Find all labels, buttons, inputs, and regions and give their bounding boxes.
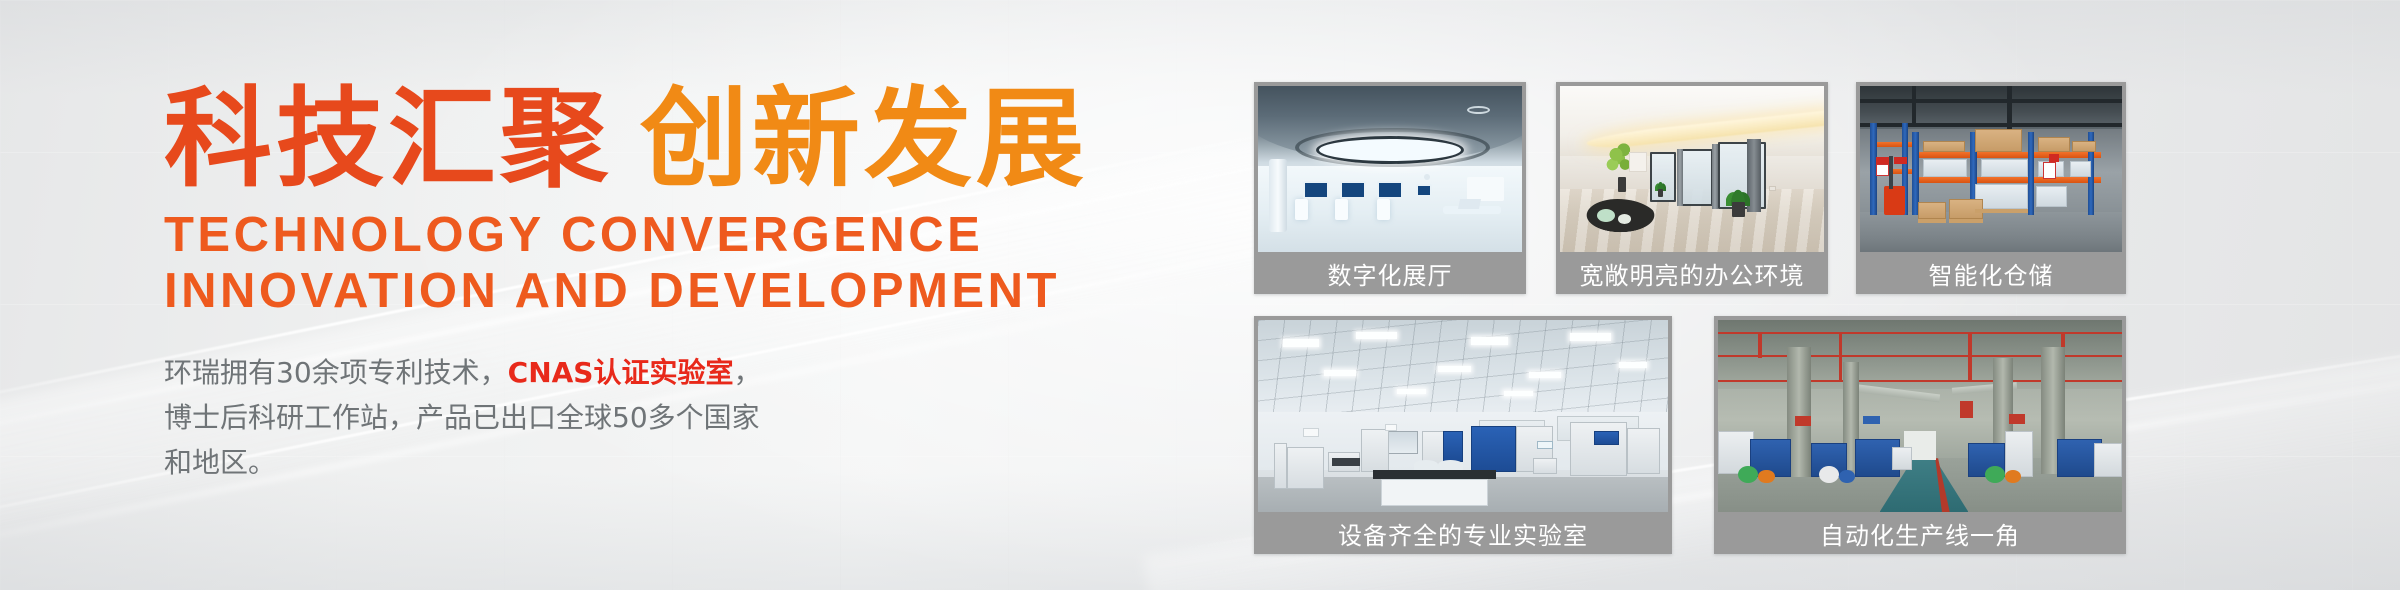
photo-card-office-environment[interactable]: 宽敞明亮的办公环境 bbox=[1556, 82, 1828, 294]
photo-card-laboratory[interactable]: 设备齐全的专业实验室 bbox=[1254, 316, 1672, 554]
photo-laboratory bbox=[1258, 320, 1668, 512]
banner-text-block: 科技汇聚创新发展 TECHNOLOGY CONVERGENCE INNOVATI… bbox=[164, 86, 1184, 486]
photo-digital-showroom bbox=[1258, 86, 1522, 252]
photo-caption: 智能化仓储 bbox=[1860, 252, 2122, 294]
headline-part-2: 创新发展 bbox=[640, 77, 1088, 202]
promo-banner: 科技汇聚创新发展 TECHNOLOGY CONVERGENCE INNOVATI… bbox=[0, 0, 2400, 590]
headline-part-1: 科技汇聚 bbox=[164, 77, 612, 202]
photo-card-smart-warehouse[interactable]: 智能化仓储 bbox=[1856, 82, 2126, 294]
photo-gallery-grid: 数字化展厅 bbox=[1254, 44, 2126, 554]
photo-caption: 宽敞明亮的办公环境 bbox=[1560, 252, 1824, 294]
description-highlight: CNAS认证实验室 bbox=[508, 356, 734, 389]
description-text: 环瑞拥有30余项专利技术，CNAS认证实验室，博士后科研工作站，产品已出口全球5… bbox=[164, 350, 764, 486]
photo-caption: 自动化生产线一角 bbox=[1718, 512, 2122, 554]
subtitle: TECHNOLOGY CONVERGENCE INNOVATION AND DE… bbox=[164, 208, 1184, 320]
photo-card-production-line[interactable]: 自动化生产线一角 bbox=[1714, 316, 2126, 554]
photo-card-digital-showroom[interactable]: 数字化展厅 bbox=[1254, 82, 1526, 294]
subtitle-line-2: INNOVATION AND DEVELOPMENT bbox=[164, 264, 1184, 320]
description-before: 环瑞拥有30余项专利技术， bbox=[164, 356, 508, 389]
photo-office-environment bbox=[1560, 86, 1824, 252]
photo-production-line bbox=[1718, 320, 2122, 512]
photo-caption: 设备齐全的专业实验室 bbox=[1258, 512, 1668, 554]
subtitle-line-1: TECHNOLOGY CONVERGENCE bbox=[164, 208, 983, 262]
page-title: 科技汇聚创新发展 bbox=[164, 86, 1184, 194]
photo-smart-warehouse bbox=[1860, 86, 2122, 252]
photo-caption: 数字化展厅 bbox=[1258, 252, 1522, 294]
